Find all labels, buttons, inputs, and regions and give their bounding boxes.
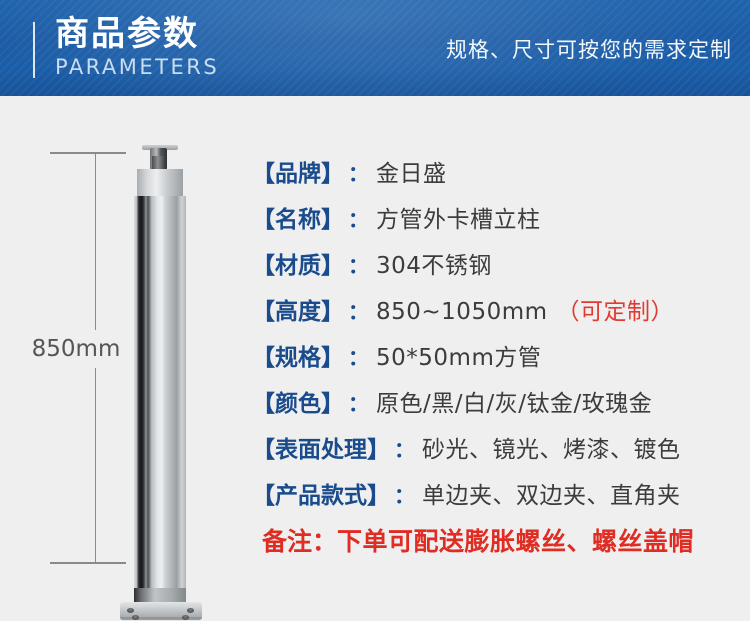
spec-colon: ： bbox=[344, 204, 376, 234]
spec-label: 【品牌】 bbox=[252, 154, 344, 188]
header-divider bbox=[33, 22, 35, 78]
spec-colon: ： bbox=[344, 388, 376, 418]
spec-row-size: 【规格】 ： 50*50mm方管 bbox=[252, 338, 744, 384]
spec-label: 【产品款式】 bbox=[252, 476, 390, 510]
spec-colon: ： bbox=[344, 250, 376, 280]
remark-text: 下单可配送膨胀螺丝、螺丝盖帽 bbox=[337, 522, 694, 558]
spec-value: 砂光、镜光、烤漆、镀色 bbox=[422, 430, 681, 464]
spec-label: 【颜色】 bbox=[252, 384, 344, 418]
spec-row-height: 【高度】 ： 850~1050mm （可定制） bbox=[252, 292, 744, 338]
base-screw-hole bbox=[182, 615, 189, 620]
spec-label: 【名称】 bbox=[252, 200, 344, 234]
base-screw-hole bbox=[187, 608, 194, 613]
spec-row-material: 【材质】 ： 304不锈钢 bbox=[252, 246, 744, 292]
spec-colon: ： bbox=[390, 434, 422, 464]
spec-value: 金日盛 bbox=[376, 154, 447, 188]
remark-row: 备注： 下单可配送膨胀螺丝、螺丝盖帽 bbox=[252, 522, 744, 568]
spec-value: 方管外卡槽立柱 bbox=[376, 200, 541, 234]
page-title: 商品参数 bbox=[55, 14, 219, 54]
product-image-post bbox=[118, 136, 228, 616]
spec-row-surface-treatment: 【表面处理】 ： 砂光、镜光、烤漆、镀色 bbox=[252, 430, 744, 476]
header-title-block: 商品参数 PARAMETERS bbox=[55, 14, 219, 81]
post-collar bbox=[137, 169, 183, 199]
base-screw-hole bbox=[132, 615, 139, 620]
spec-label: 【高度】 bbox=[252, 292, 344, 326]
dimension-tick-bottom bbox=[50, 562, 126, 564]
spec-colon: ： bbox=[344, 158, 376, 188]
spec-label: 【表面处理】 bbox=[252, 430, 390, 464]
spec-colon: ： bbox=[390, 480, 422, 510]
base-screw-hole bbox=[127, 608, 134, 613]
post-highlight bbox=[158, 196, 165, 601]
page-header: 商品参数 PARAMETERS 规格、尺寸可按您的需求定制 bbox=[0, 0, 750, 96]
spec-value: 原色/黑/白/灰/钛金/玫瑰金 bbox=[376, 384, 652, 418]
spec-row-color: 【颜色】 ： 原色/黑/白/灰/钛金/玫瑰金 bbox=[252, 384, 744, 430]
spec-row-product-style: 【产品款式】 ： 单边夹、双边夹、直角夹 bbox=[252, 476, 744, 522]
spec-label: 【材质】 bbox=[252, 246, 344, 280]
dimension-annotation: 850mm bbox=[50, 148, 108, 568]
dimension-tick-top bbox=[50, 152, 126, 154]
spec-value: 50*50mm方管 bbox=[376, 338, 541, 372]
dimension-label: 850mm bbox=[22, 330, 130, 368]
header-tagline: 规格、尺寸可按您的需求定制 bbox=[446, 34, 732, 64]
spec-colon: ： bbox=[344, 342, 376, 372]
spec-value: 304不锈钢 bbox=[376, 246, 492, 280]
specification-list: 【品牌】 ： 金日盛 【名称】 ： 方管外卡槽立柱 【材质】 ： 304不锈钢 … bbox=[252, 154, 744, 568]
spec-row-brand: 【品牌】 ： 金日盛 bbox=[252, 154, 744, 200]
post-top-fitting-inner bbox=[152, 156, 165, 169]
spec-value: 单边夹、双边夹、直角夹 bbox=[422, 476, 681, 510]
page-subtitle: PARAMETERS bbox=[55, 54, 219, 81]
spec-row-name: 【名称】 ： 方管外卡槽立柱 bbox=[252, 200, 744, 246]
spec-note-customizable: （可定制） bbox=[548, 292, 675, 326]
spec-value: 850~1050mm bbox=[376, 299, 548, 325]
content-area: 850mm 【品牌】 ： 金日盛 【名称】 bbox=[0, 96, 750, 621]
spec-colon: ： bbox=[344, 296, 376, 326]
spec-label: 【规格】 bbox=[252, 338, 344, 372]
product-parameters-page: 商品参数 PARAMETERS 规格、尺寸可按您的需求定制 850mm bbox=[0, 0, 750, 621]
remark-label: 备注： bbox=[262, 522, 337, 558]
